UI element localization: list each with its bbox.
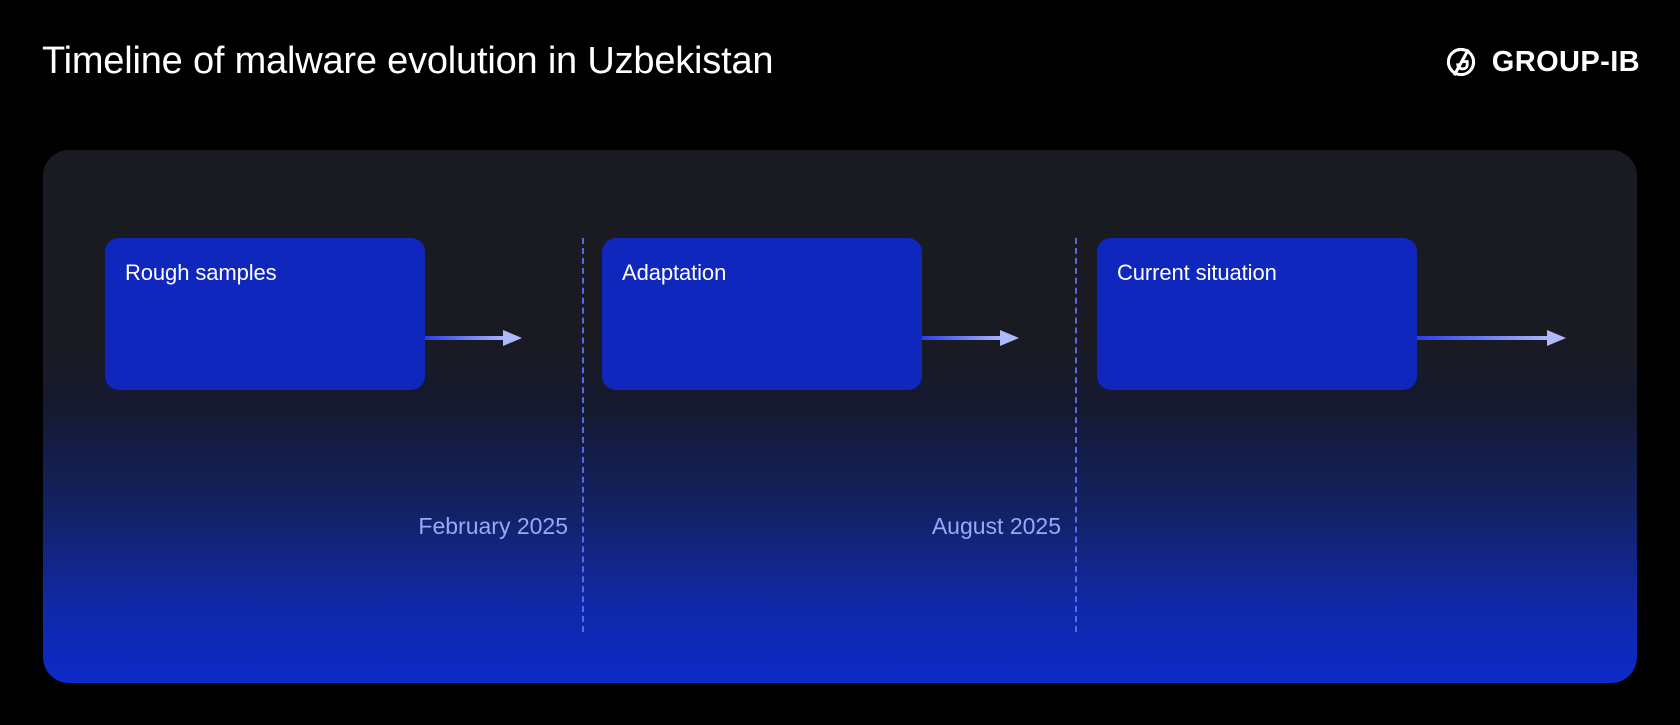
stage-label: Current situation xyxy=(1117,260,1277,286)
milestone-label-february-2025: February 2025 xyxy=(342,513,568,540)
stage-arrow-1 xyxy=(425,327,523,349)
stage-card-rough-samples[interactable]: Rough samples xyxy=(105,238,425,390)
stage-card-current-situation[interactable]: Current situation xyxy=(1097,238,1417,390)
stage-arrow-2 xyxy=(922,327,1020,349)
page-header: Timeline of malware evolution in Uzbekis… xyxy=(0,0,1680,150)
group-ib-slashed-circle-icon xyxy=(1443,44,1479,80)
timeline-surface: Rough samples Adaptation xyxy=(43,150,1637,683)
brand-name: GROUP-IB xyxy=(1492,46,1640,79)
stage-label: Adaptation xyxy=(622,260,726,286)
timeline-panel: Rough samples Adaptation xyxy=(43,150,1637,683)
milestone-label-august-2025: August 2025 xyxy=(835,513,1061,540)
timeline-divider-2 xyxy=(1075,238,1077,632)
timeline-divider-1 xyxy=(582,238,584,632)
stage-label: Rough samples xyxy=(125,260,277,286)
brand-logo: GROUP-IB xyxy=(1443,44,1640,80)
page-title: Timeline of malware evolution in Uzbekis… xyxy=(42,40,773,83)
stage-card-adaptation[interactable]: Adaptation xyxy=(602,238,922,390)
stage-arrow-3 xyxy=(1417,327,1567,349)
